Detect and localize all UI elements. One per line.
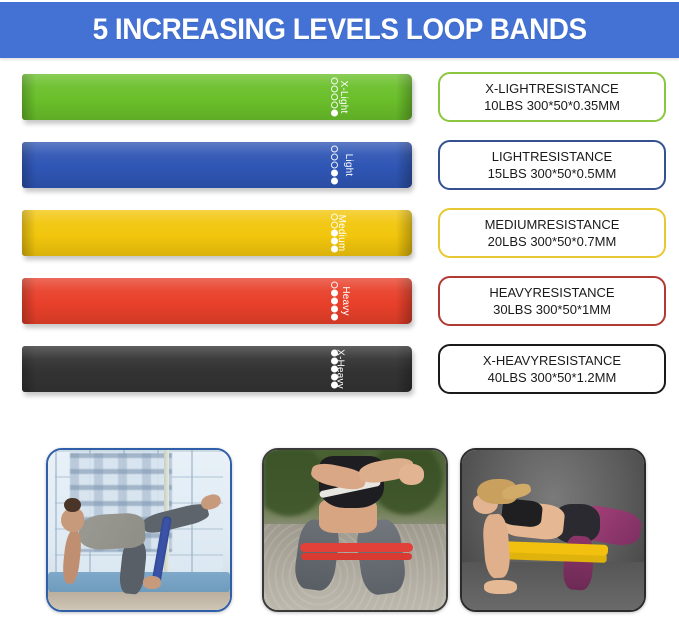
spec-box-heavy: HEAVYRESISTANCE 30LBS 300*50*1MM — [438, 276, 666, 326]
photo-kneeling-leg-raise-blue-band — [46, 448, 232, 612]
usage-photos-row — [0, 448, 679, 618]
band-left-edge — [22, 278, 36, 324]
hand — [484, 580, 517, 594]
dot-filled — [331, 110, 338, 117]
photo-squat-red-band — [262, 448, 448, 612]
band-swatch-medium: Medium — [22, 210, 412, 256]
dot-empty — [331, 282, 338, 289]
band-label-x-heavy: X-Heavy — [335, 349, 346, 389]
spec-title: LIGHTRESISTANCE — [492, 148, 612, 165]
resistance-dots-heavy — [331, 282, 338, 321]
bands-and-specs-section: X-Light X-LIGHTRESISTANCE 10LBS 300*50*0… — [0, 70, 679, 420]
band-swatch-heavy: Heavy — [22, 278, 412, 324]
band-left-edge — [22, 74, 36, 120]
band-right-edge — [396, 210, 412, 256]
band-left-edge — [22, 346, 36, 392]
band-row-x-light: X-Light X-LIGHTRESISTANCE 10LBS 300*50*0… — [0, 70, 679, 124]
photo-plank-yellow-band — [460, 448, 646, 612]
resistance-dots-x-light — [331, 78, 338, 117]
resistance-dots-light — [331, 146, 338, 185]
spec-title: X-LIGHTRESISTANCE — [485, 80, 618, 97]
spec-detail: 15LBS 300*50*0.5MM — [488, 165, 617, 182]
dot-empty — [331, 78, 338, 85]
spec-detail: 30LBS 300*50*1MM — [493, 301, 611, 318]
band-right-edge — [396, 346, 412, 392]
band-label-x-light: X-Light — [338, 80, 349, 113]
spec-detail: 20LBS 300*50*0.7MM — [488, 233, 617, 250]
band-label-light: Light — [343, 154, 354, 177]
spec-detail: 40LBS 300*50*1.2MM — [488, 369, 617, 386]
photo-scene — [264, 450, 446, 610]
band-row-x-heavy: X-Heavy X-HEAVYRESISTANCE 40LBS 300*50*1… — [0, 342, 679, 396]
dot-filled — [331, 298, 338, 305]
header-bar: 5 INCREASING LEVELS LOOP BANDS — [0, 2, 679, 58]
dot-empty — [331, 162, 338, 169]
band-swatch-x-light: X-Light — [22, 74, 412, 120]
resistance-band-in-use — [300, 543, 413, 552]
band-right-edge — [396, 278, 412, 324]
dot-empty — [331, 86, 338, 93]
torso — [78, 512, 145, 551]
gravel-ground — [264, 524, 446, 610]
band-right-edge — [396, 142, 412, 188]
clasped-hands — [399, 464, 424, 485]
studio-floor — [48, 591, 230, 610]
band-left-edge — [22, 210, 36, 256]
dot-filled — [331, 178, 338, 185]
band-swatch-light: Light — [22, 142, 412, 188]
band-label-medium: Medium — [336, 215, 347, 252]
spec-title: X-HEAVYRESISTANCE — [483, 352, 621, 369]
band-row-heavy: Heavy HEAVYRESISTANCE 30LBS 300*50*1MM — [0, 274, 679, 328]
dot-filled — [331, 314, 338, 321]
band-left-edge — [22, 142, 36, 188]
spec-title: MEDIUMRESISTANCE — [485, 216, 620, 233]
spec-title: HEAVYRESISTANCE — [489, 284, 614, 301]
spec-box-light: LIGHTRESISTANCE 15LBS 300*50*0.5MM — [438, 140, 666, 190]
photo-scene — [462, 450, 644, 610]
dot-filled — [331, 290, 338, 297]
hair-bun — [64, 498, 80, 512]
dot-filled — [331, 306, 338, 313]
spec-box-x-heavy: X-HEAVYRESISTANCE 40LBS 300*50*1.2MM — [438, 344, 666, 394]
band-right-edge — [396, 74, 412, 120]
band-label-heavy: Heavy — [340, 286, 351, 315]
spec-box-medium: MEDIUMRESISTANCE 20LBS 300*50*0.7MM — [438, 208, 666, 258]
band-row-light: Light LIGHTRESISTANCE 15LBS 300*50*0.5MM — [0, 138, 679, 192]
dot-filled — [331, 170, 338, 177]
spec-detail: 10LBS 300*50*0.35MM — [484, 97, 620, 114]
dot-empty — [331, 146, 338, 153]
dot-empty — [331, 154, 338, 161]
photo-scene — [48, 450, 230, 610]
dot-empty — [331, 94, 338, 101]
band-swatch-x-heavy: X-Heavy — [22, 346, 412, 392]
dot-empty — [331, 102, 338, 109]
page-title: 5 INCREASING LEVELS LOOP BANDS — [92, 13, 586, 47]
band-row-medium: Medium MEDIUMRESISTANCE 20LBS 300*50*0.7… — [0, 206, 679, 260]
spec-box-x-light: X-LIGHTRESISTANCE 10LBS 300*50*0.35MM — [438, 72, 666, 122]
support-foot — [143, 576, 161, 589]
